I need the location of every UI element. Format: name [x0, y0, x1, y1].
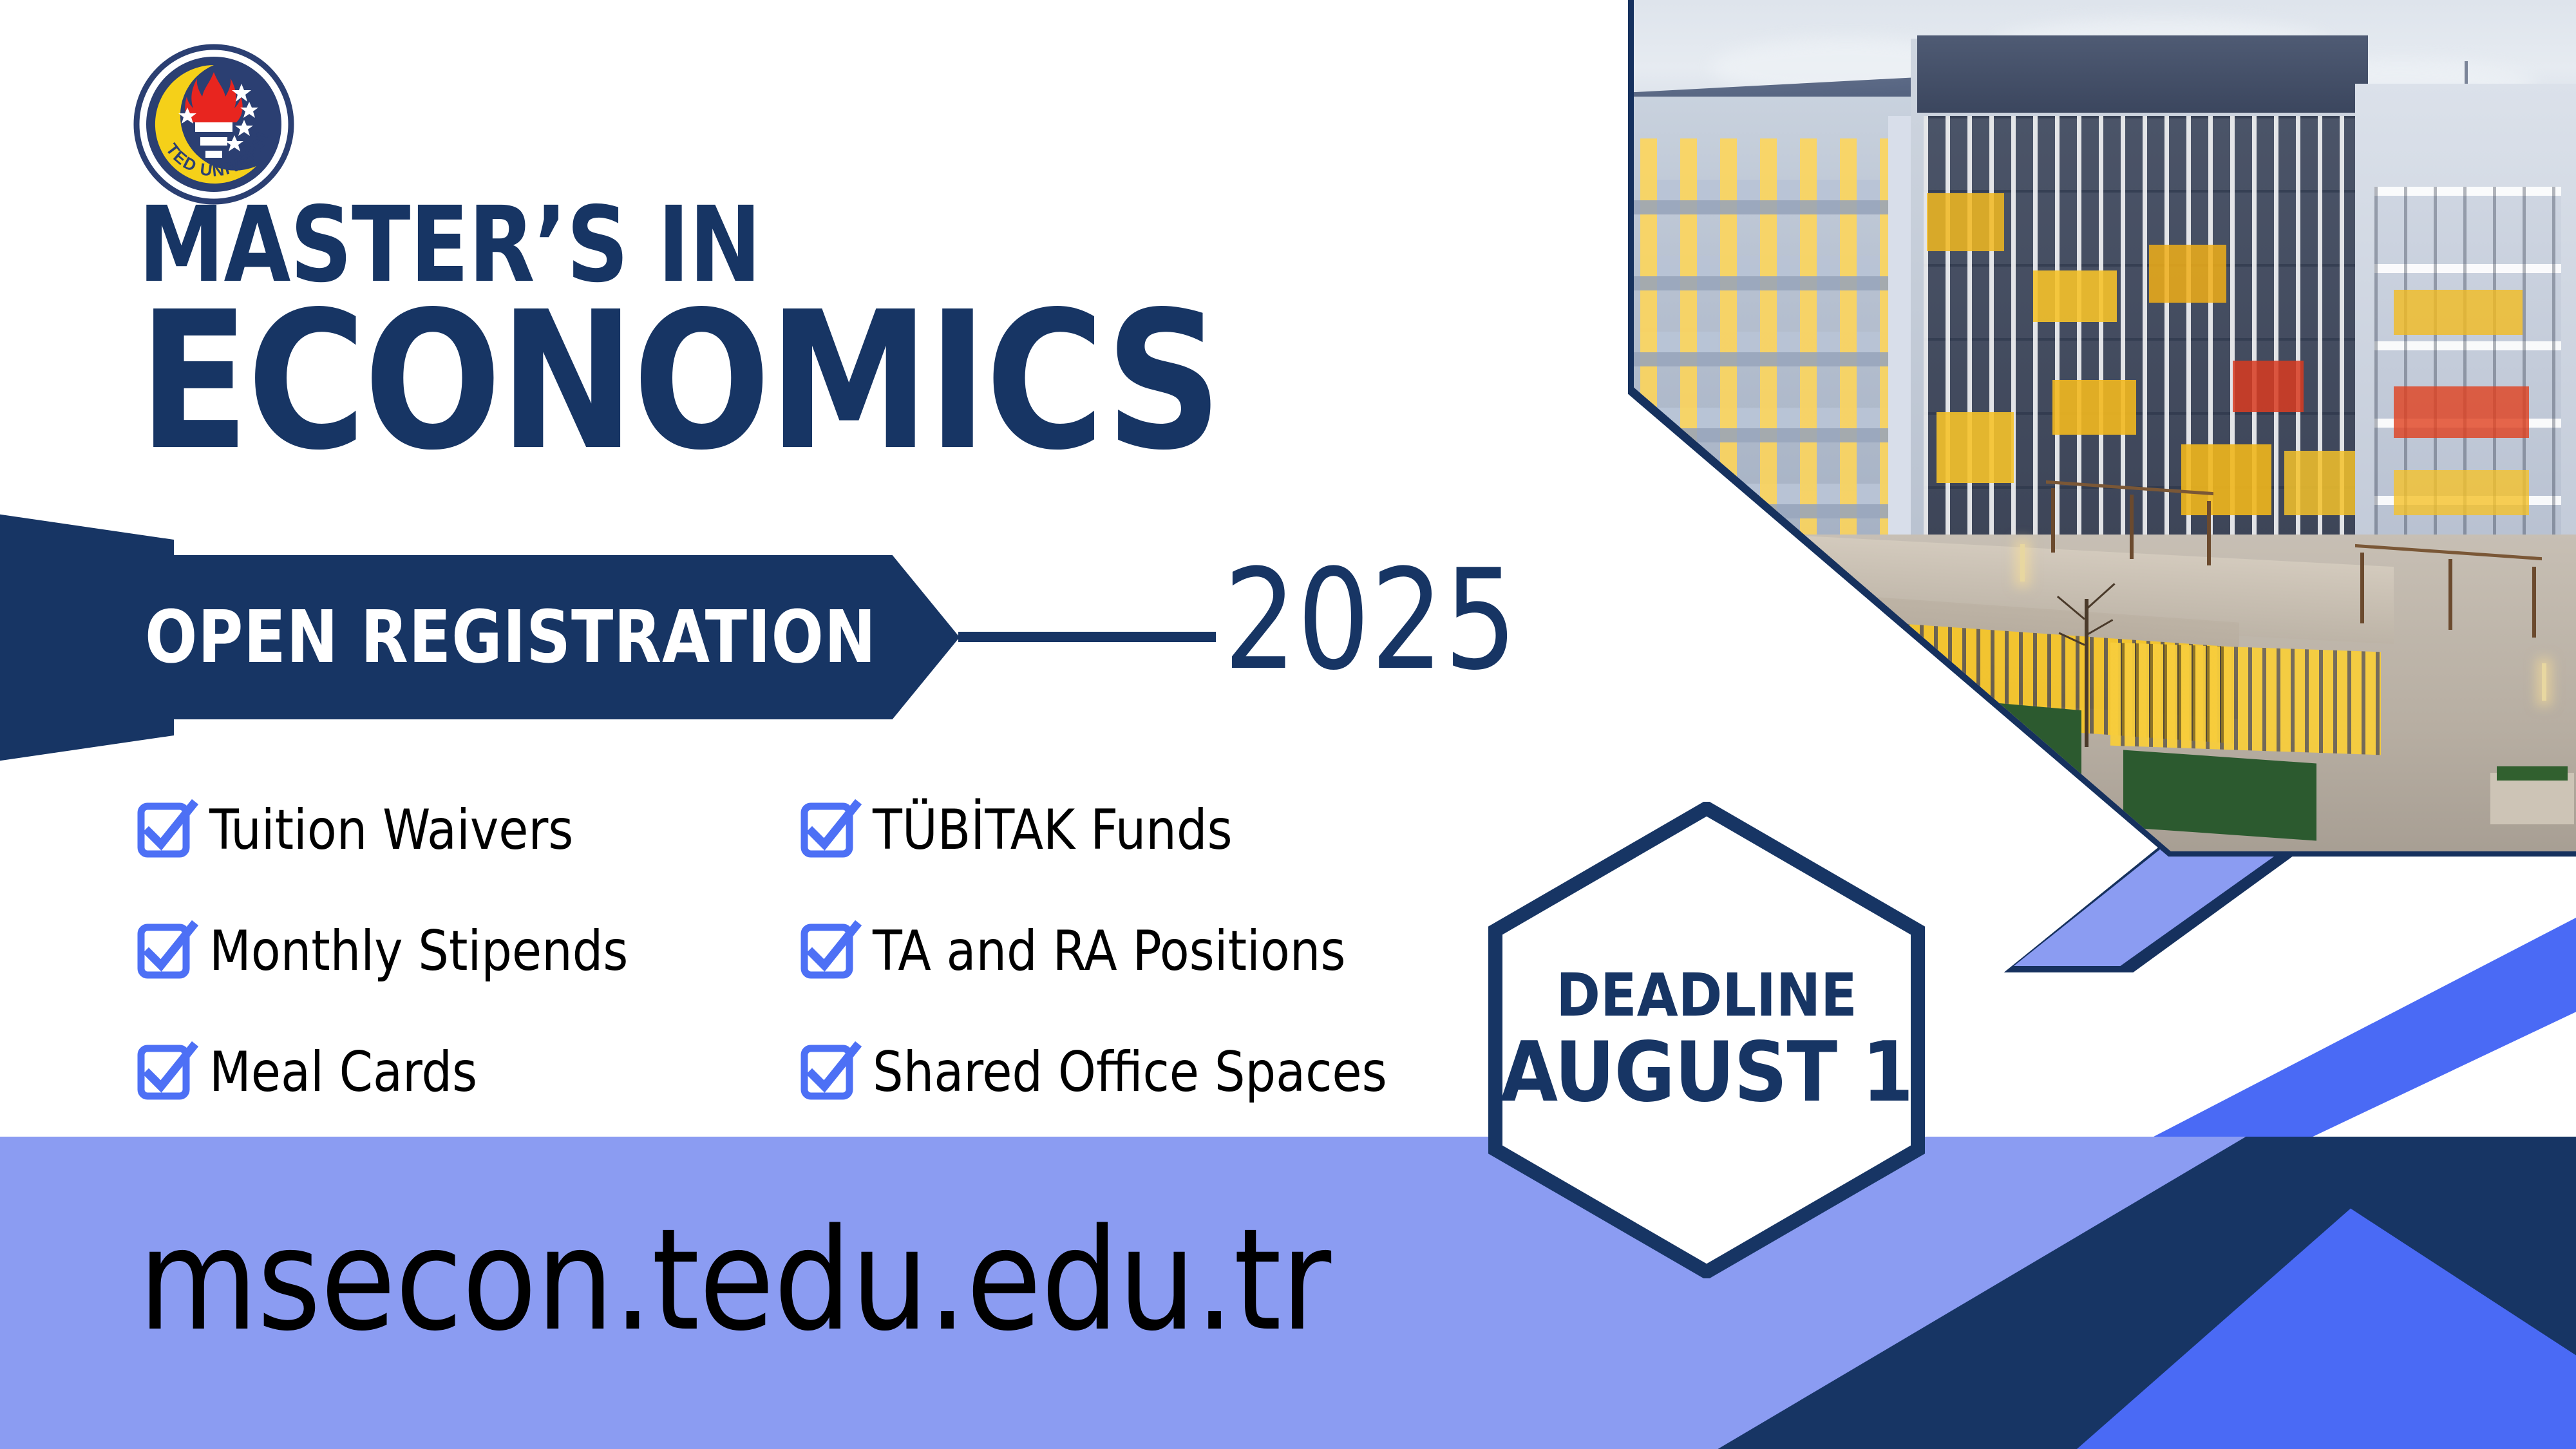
benefit-item: Meal Cards	[138, 1012, 802, 1133]
benefit-item: TÜBİTAK Funds	[802, 770, 1465, 891]
checked-checkbox-icon	[802, 802, 855, 858]
checked-checkbox-icon	[802, 1045, 855, 1100]
campus-photo-frame	[1628, 0, 2576, 857]
ted-university-logo: TED UNIVERSITY	[133, 44, 294, 205]
checked-checkbox-icon	[138, 923, 191, 979]
benefit-item: Shared Office Spaces	[802, 1012, 1465, 1133]
pennant-connector-line	[958, 632, 1216, 642]
open-registration-label: OPEN REGISTRATION	[145, 596, 876, 679]
benefit-label: Monthly Stipends	[209, 923, 628, 979]
campus-photo	[1634, 0, 2576, 851]
page-title: MASTER’S IN ECONOMICS	[138, 196, 1277, 465]
website-url[interactable]: msecon.tedu.edu.tr	[138, 1211, 1331, 1351]
benefit-item: Monthly Stipends	[138, 891, 802, 1012]
benefits-list: Tuition Waivers TÜBİTAK Funds Monthly St…	[138, 770, 1491, 1133]
benefit-item: TA and RA Positions	[802, 891, 1465, 1012]
benefit-label: TA and RA Positions	[873, 923, 1345, 979]
open-registration-banner: OPEN REGISTRATION	[0, 555, 960, 719]
benefit-label: Shared Office Spaces	[873, 1045, 1387, 1100]
benefit-label: Meal Cards	[209, 1045, 477, 1100]
checked-checkbox-icon	[138, 802, 191, 858]
benefit-item: Tuition Waivers	[138, 770, 802, 891]
benefit-label: TÜBİTAK Funds	[873, 802, 1233, 858]
headline-line-2: ECONOMICS	[138, 298, 1220, 466]
year-label: 2025	[1224, 551, 1517, 689]
poster-canvas: TED UNIVERSITY MASTER’S IN ECONOMICS OPE…	[0, 0, 2576, 1449]
checked-checkbox-icon	[802, 923, 855, 979]
benefit-label: Tuition Waivers	[209, 802, 573, 858]
checked-checkbox-icon	[138, 1045, 191, 1100]
deadline-badge: DEADLINE AUGUST 1	[1488, 802, 1926, 1278]
